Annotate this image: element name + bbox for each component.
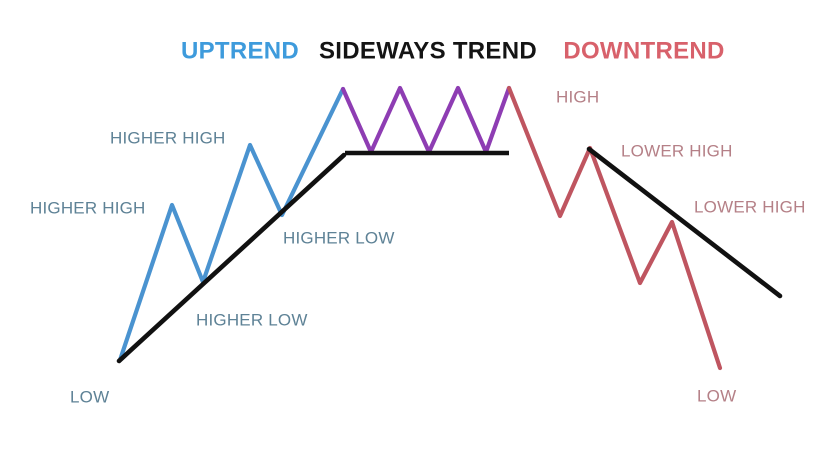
heading-sideways-trend: SIDEWAYS TREND bbox=[319, 37, 537, 64]
label-lower-high-1: LOWER HIGH bbox=[621, 141, 733, 160]
heading-downtrend: DOWNTREND bbox=[563, 37, 724, 64]
label-low-right: LOW bbox=[697, 386, 736, 405]
label-lower-high-2: LOWER HIGH bbox=[694, 197, 806, 216]
headings: UPTREND SIDEWAYS TREND DOWNTREND bbox=[181, 37, 725, 64]
label-higher-low-1: HIGHER LOW bbox=[196, 310, 308, 329]
label-higher-high-2: HIGHER HIGH bbox=[110, 128, 226, 147]
heading-uptrend: UPTREND bbox=[181, 37, 299, 64]
label-high: HIGH bbox=[556, 87, 599, 106]
label-higher-low-2: HIGHER LOW bbox=[283, 228, 395, 247]
trend-diagram: UPTREND SIDEWAYS TREND DOWNTREND LOWHIGH… bbox=[0, 0, 838, 462]
label-higher-high-1: HIGHER HIGH bbox=[30, 198, 146, 217]
label-low-left: LOW bbox=[70, 387, 109, 406]
